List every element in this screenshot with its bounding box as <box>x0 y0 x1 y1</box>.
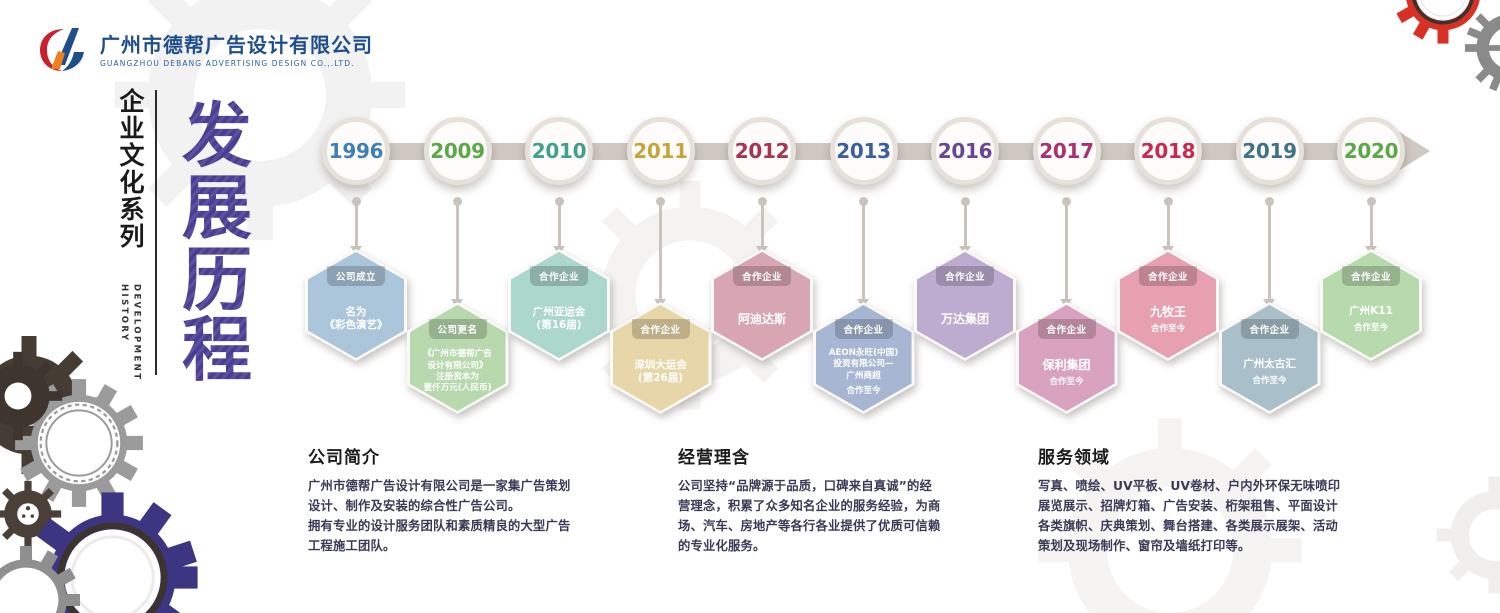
timeline-node-2016[interactable]: 2016 <box>931 117 999 185</box>
hexagon-sub-text: 合作至今 <box>1354 321 1388 333</box>
hexagon-tag-label: 合作企业 <box>1139 266 1197 286</box>
milestone-hexagon-2017[interactable]: 合作企业保利集团合作至今 <box>1019 305 1115 411</box>
company-name-cn: 广州市德帮广告设计有限公司 <box>100 35 373 55</box>
hexagon-tag-label: 合作企业 <box>834 319 892 339</box>
hexagon-body: 九牧王合作至今 <box>1120 286 1216 352</box>
milestone-hexagon-1996[interactable]: 公司成立名为 《彩色演艺》 <box>308 252 404 358</box>
section-body: 广州市德帮广告设计有限公司是一家集广告策划 设计、制作及安装的综合性广告公司。 … <box>308 477 638 557</box>
section-body: 公司坚持“品牌源于品质，口碑来自真诚”的经 营理念，积累了众多知名企业的服务经验… <box>678 477 1018 557</box>
connector-line <box>1370 202 1373 247</box>
connector-line <box>1268 202 1271 300</box>
timeline-year-label: 2017 <box>1039 139 1093 163</box>
hexagon-sub-text: 合作至今 <box>1151 322 1185 334</box>
gear-icon-left-gray-bottom <box>0 540 86 613</box>
milestone-hexagon-2020[interactable]: 合作企业广州K11合作至今 <box>1323 252 1419 358</box>
series-title-block: 企业文化系列 DEVELOPMENT HISTORY <box>118 88 157 378</box>
hexagon-tag-label: 合作企业 <box>1037 319 1095 339</box>
timeline-node-2009[interactable]: 2009 <box>424 117 492 185</box>
timeline-year-label: 2012 <box>735 139 789 163</box>
hexagon-main-text: 九牧王 <box>1150 305 1186 320</box>
main-title-char-1: 发 <box>182 95 252 177</box>
section-body: 写真、喷绘、UV平板、UV卷材、户内外环保无味喷印 展览展示、招牌灯箱、广告安装… <box>1038 477 1388 557</box>
hexagon-body: 阿迪达斯 <box>714 286 810 352</box>
connector-line <box>355 202 358 247</box>
hexagon-tag-label: 合作企业 <box>631 319 689 339</box>
timeline-node-2017[interactable]: 2017 <box>1033 117 1101 185</box>
hexagon-body: 广州K11合作至今 <box>1323 286 1419 352</box>
section-business-philosophy: 经营理含 公司坚持“品牌源于品质，口碑来自真诚”的经 营理念，积累了众多知名企业… <box>678 443 1018 557</box>
timeline-node-2010[interactable]: 2010 <box>525 117 593 185</box>
company-logo-block: 广州市德帮广告设计有限公司 GUANGZHOU DEBANG ADVERTISI… <box>38 25 373 75</box>
connector-line <box>964 202 967 247</box>
hexagon-sub-text: 合作至今 <box>1049 375 1083 387</box>
hexagon-main-text: 名为 《彩色演艺》 <box>325 306 388 333</box>
hexagon-tag-label: 公司更名 <box>428 319 486 339</box>
milestone-hexagon-2016[interactable]: 合作企业万达集团 <box>917 252 1013 358</box>
hexagon-tag-label: 公司成立 <box>327 266 385 286</box>
infographic-canvas: 广州市德帮广告设计有限公司 GUANGZHOU DEBANG ADVERTISI… <box>0 0 1500 613</box>
connector-line <box>761 202 764 247</box>
section-company-profile: 公司简介 广州市德帮广告设计有限公司是一家集广告策划 设计、制作及安装的综合性广… <box>308 443 638 557</box>
hexagon-tag-label: 合作企业 <box>1342 266 1400 286</box>
hexagon-sub-text: 合作至今 <box>846 384 880 396</box>
gear-icon-topright-gray <box>1462 0 1500 96</box>
milestone-hexagon-2010[interactable]: 合作企业广州亚运会 (第16届) <box>511 252 607 358</box>
hexagon-body: 广州太古汇合作至今 <box>1222 339 1318 405</box>
gear-icon-bottomright-gray <box>1430 470 1500 600</box>
milestone-hexagon-2011[interactable]: 合作企业深圳大运会 (第26届) <box>613 305 709 411</box>
hexagon-main-text: 深圳大运会 (第26届) <box>634 359 687 386</box>
hexagon-main-text: 广州亚运会 (第16届) <box>533 306 586 333</box>
timeline-node-2013[interactable]: 2013 <box>830 117 898 185</box>
gear-icon-left-gray-ring <box>8 372 150 514</box>
main-title-char-4: 程 <box>182 309 252 382</box>
gear-icon-left-purple <box>20 485 205 613</box>
timeline-node-2020[interactable]: 2020 <box>1337 117 1405 185</box>
hexagon-body: 深圳大运会 (第26届) <box>613 339 709 405</box>
debang-swoosh-logo-icon <box>38 25 90 75</box>
hexagon-tag-label: 合作企业 <box>733 266 791 286</box>
connector-line <box>1167 202 1170 247</box>
timeline-node-2018[interactable]: 2018 <box>1134 117 1202 185</box>
timeline-node-2011[interactable]: 2011 <box>627 117 695 185</box>
timeline-year-label: 2016 <box>938 139 992 163</box>
milestone-hexagon-2019[interactable]: 合作企业广州太古汇合作至今 <box>1222 305 1318 411</box>
hexagon-body: AEON永旺(中国) 投资有限公司— 广州商超合作至今 <box>816 339 912 405</box>
timeline-year-label: 2009 <box>430 139 484 163</box>
milestone-hexagon-2012[interactable]: 合作企业阿迪达斯 <box>714 252 810 358</box>
hexagon-tag-label: 合作企业 <box>1240 319 1298 339</box>
hexagon-body: 万达集团 <box>917 286 1013 352</box>
hexagon-body: 名为 《彩色演艺》 <box>308 286 404 352</box>
connector-line <box>558 202 561 247</box>
milestone-hexagon-2009[interactable]: 公司更名《广州市德帮广告 设计有限公司》 注册资本为 壹仟万元(人民币) <box>410 305 506 411</box>
timeline-year-label: 2010 <box>532 139 586 163</box>
gear-icon-left-dark-small <box>0 478 64 550</box>
hexagon-sub-text: 合作至今 <box>1252 374 1286 386</box>
section-heading: 服务领域 <box>1038 443 1388 468</box>
hexagon-body: 《广州市德帮广告 设计有限公司》 注册资本为 壹仟万元(人民币) <box>410 339 506 405</box>
milestone-hexagon-2013[interactable]: 合作企业AEON永旺(中国) 投资有限公司— 广州商超合作至今 <box>816 305 912 411</box>
hexagon-main-text: 《广州市德帮广告 设计有限公司》 注册资本为 壹仟万元(人民币) <box>423 349 492 394</box>
timeline-node-2012[interactable]: 2012 <box>728 117 796 185</box>
main-title-development-history: 发 展 历 程 <box>178 92 278 382</box>
hexagon-main-text: 保利集团 <box>1042 358 1090 373</box>
company-name-en: GUANGZHOU DEBANG ADVERTISING DESIGN CO.,… <box>100 60 373 68</box>
connector-line <box>862 202 865 300</box>
connector-line <box>659 202 662 300</box>
hexagon-tag-label: 合作企业 <box>530 266 588 286</box>
timeline-node-1996[interactable]: 1996 <box>322 117 390 185</box>
hexagon-main-text: 万达集团 <box>941 312 989 327</box>
section-heading: 经营理含 <box>678 443 1018 468</box>
timeline-year-label: 2018 <box>1141 139 1195 163</box>
main-title-char-2: 展 <box>182 167 252 249</box>
hexagon-body: 保利集团合作至今 <box>1019 339 1115 405</box>
series-title-en: DEVELOPMENT HISTORY <box>117 284 143 376</box>
hexagon-main-text: 阿迪达斯 <box>738 312 786 327</box>
gear-icon-topleft-dark <box>0 348 66 444</box>
hexagon-tag-label: 合作企业 <box>936 266 994 286</box>
timeline-year-label: 2011 <box>633 139 687 163</box>
timeline-year-label: 1996 <box>329 139 383 163</box>
connector-line <box>1065 202 1068 300</box>
timeline-node-2019[interactable]: 2019 <box>1236 117 1304 185</box>
section-heading: 公司简介 <box>308 443 638 468</box>
title-divider <box>155 90 157 375</box>
timeline-year-label: 2019 <box>1242 139 1296 163</box>
hexagon-main-text: 广州太古汇 <box>1243 358 1296 371</box>
milestone-hexagon-2018[interactable]: 合作企业九牧王合作至今 <box>1120 252 1216 358</box>
hexagon-main-text: AEON永旺(中国) 投资有限公司— 广州商超 <box>829 348 898 382</box>
hexagon-main-text: 广州K11 <box>1349 305 1393 318</box>
timeline-year-label: 2020 <box>1344 139 1398 163</box>
timeline-year-label: 2013 <box>836 139 890 163</box>
connector-line <box>456 202 459 300</box>
hexagon-body: 广州亚运会 (第16届) <box>511 286 607 352</box>
gear-icon-topright-red <box>1388 0 1498 48</box>
gear-icon-left-dark-top <box>0 330 104 480</box>
section-service-scope: 服务领域 写真、喷绘、UV平板、UV卷材、户内外环保无味喷印 展览展示、招牌灯箱… <box>1038 443 1388 557</box>
